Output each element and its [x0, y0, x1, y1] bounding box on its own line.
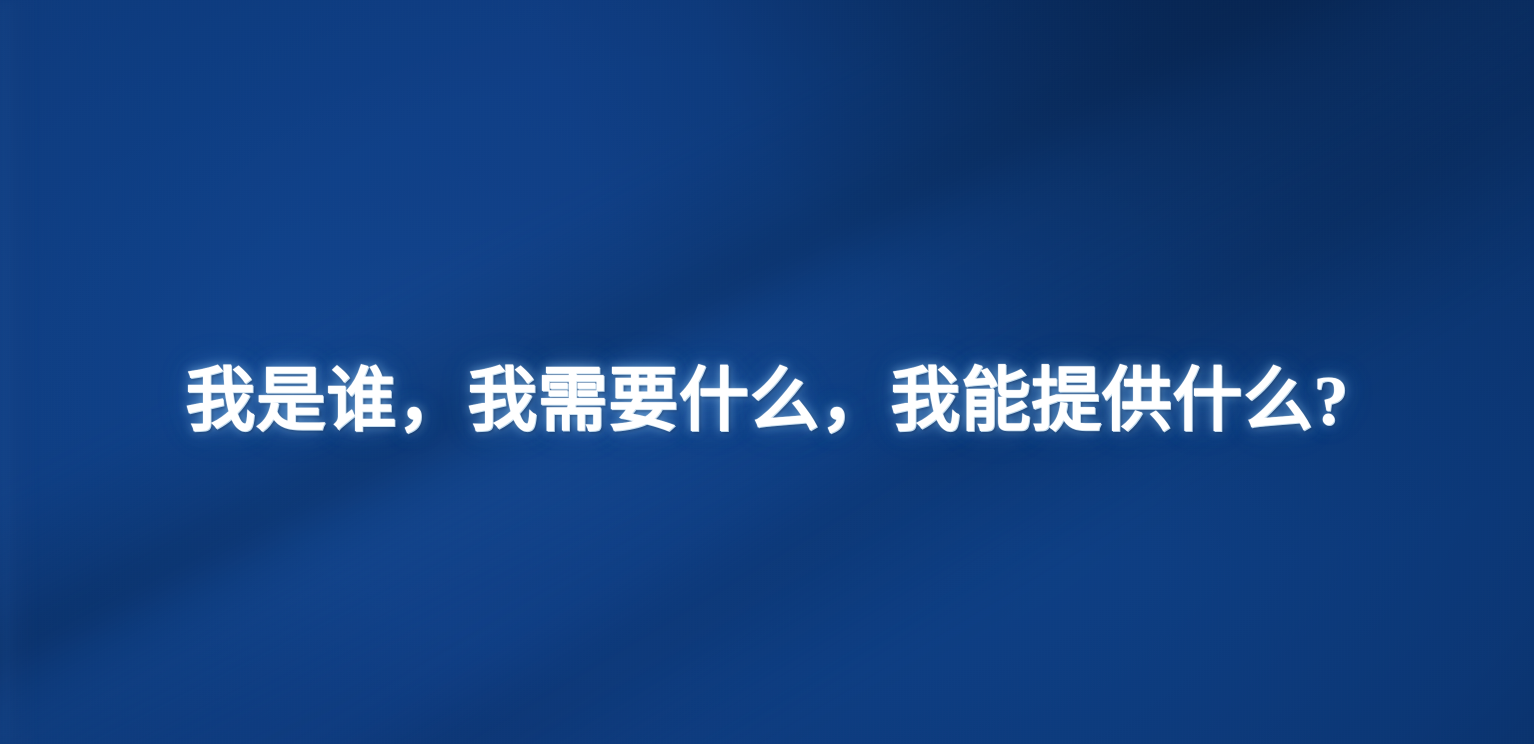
slide-canvas: 我是谁，我需要什么，我能提供什么? [0, 0, 1534, 744]
slide-headline: 我是谁，我需要什么，我能提供什么? [185, 366, 1349, 437]
headline-container: 我是谁，我需要什么，我能提供什么? [0, 0, 1534, 744]
